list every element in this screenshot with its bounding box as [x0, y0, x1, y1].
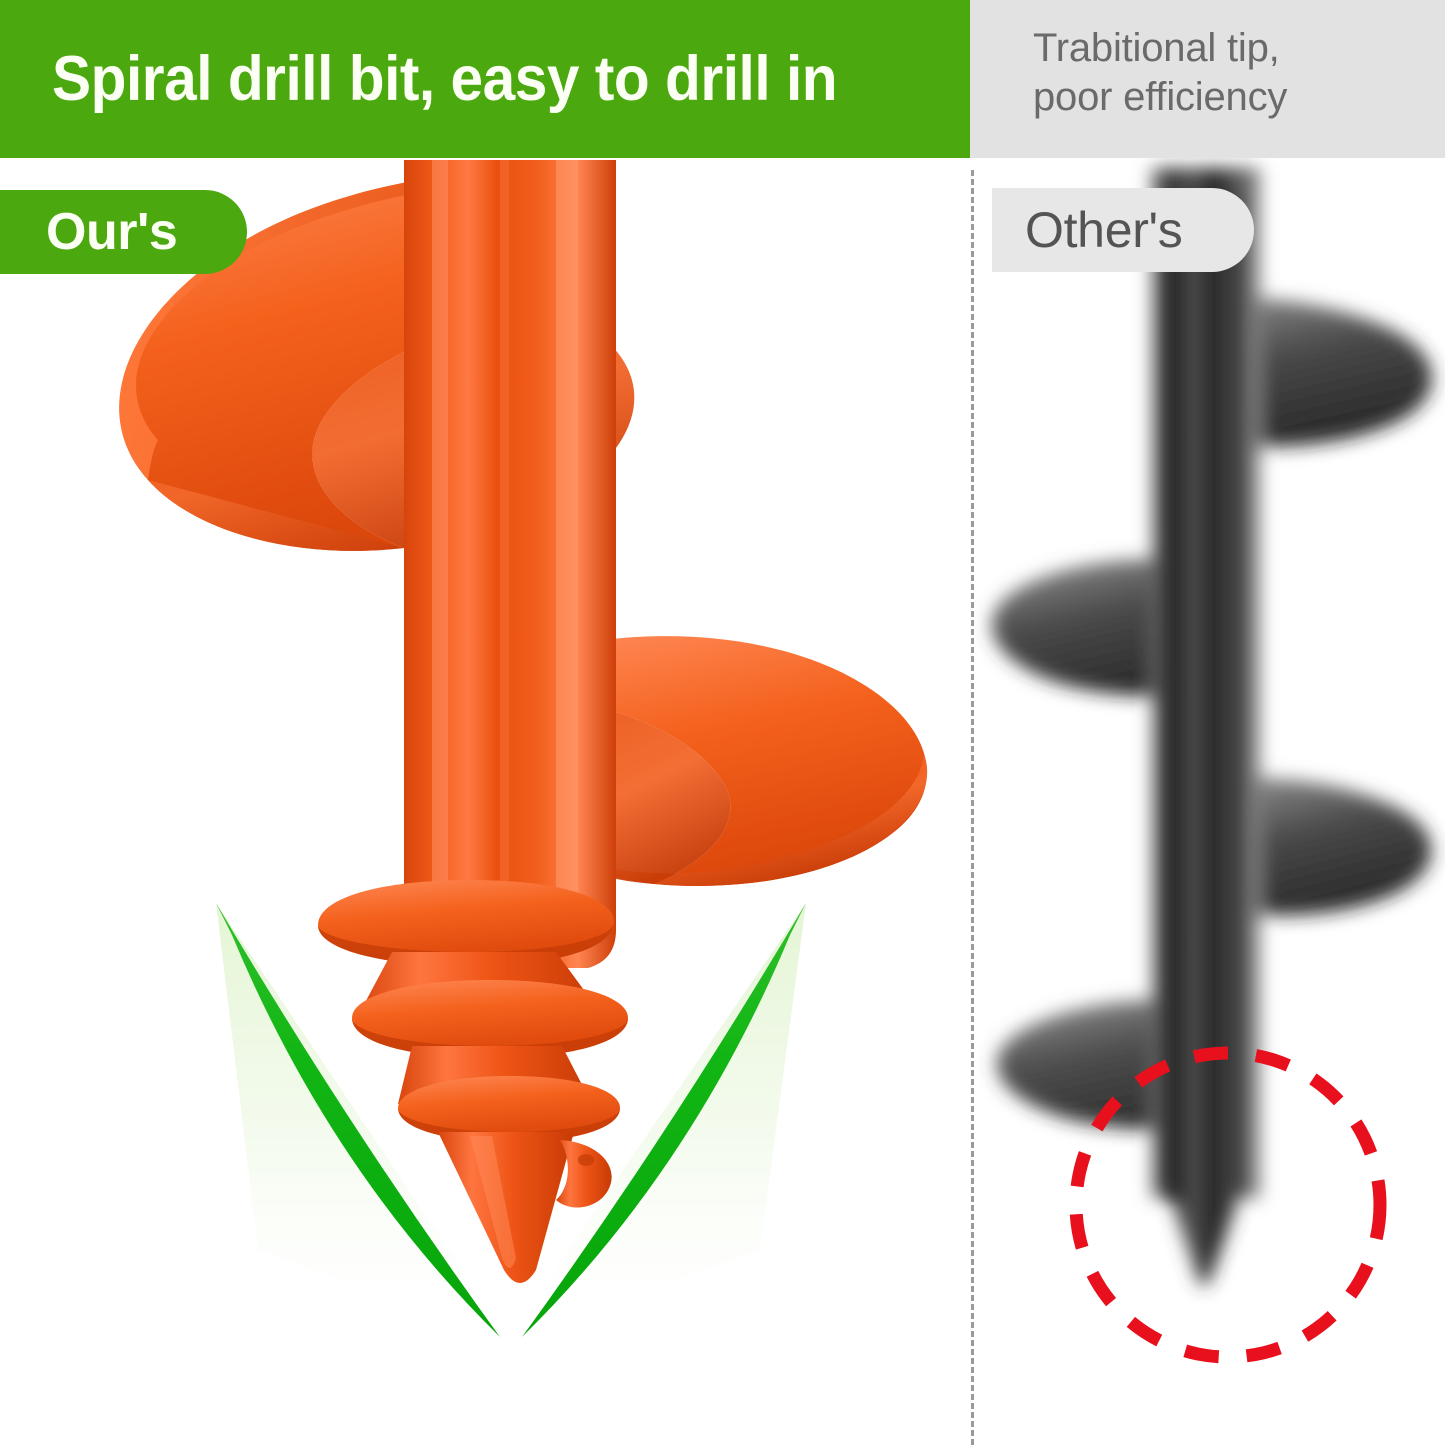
v-guide-highlight — [216, 903, 806, 1342]
dark-auger-ghost — [1166, 200, 1242, 1200]
right-banner-title-line1: Trabitional tip, — [1033, 24, 1433, 73]
ours-badge-label: Our's — [46, 202, 177, 262]
auger-flight-upper-under — [148, 309, 634, 551]
panel-divider — [971, 170, 974, 1445]
infographic-canvas: Spiral drill bit, easy to drill in Trabi… — [0, 0, 1445, 1445]
blunt-tip-callout-circle — [1076, 1053, 1380, 1357]
auger-rib-2 — [352, 980, 628, 1058]
v-line-right — [522, 903, 806, 1337]
auger-barb — [556, 1140, 612, 1208]
auger-flight-lower-top — [566, 636, 927, 886]
auger-point — [438, 1132, 574, 1283]
others-badge: Other's — [992, 188, 1254, 272]
auger-flight-lower-inner — [511, 700, 731, 884]
auger-rib-1 — [318, 880, 614, 966]
ours-badge: Our's — [0, 190, 247, 274]
auger-shaft — [404, 160, 616, 968]
dark-auger — [992, 168, 1432, 1286]
right-banner-title: Trabitional tip, poor efficiency — [1033, 24, 1433, 122]
auger-cone-seg-2 — [398, 1046, 592, 1104]
auger-cone-seg-1 — [360, 952, 600, 1012]
left-banner-title: Spiral drill bit, easy to drill in — [52, 34, 889, 124]
orange-auger — [119, 160, 927, 1283]
v-line-left — [216, 903, 500, 1337]
others-badge-label: Other's — [1025, 201, 1183, 259]
right-banner-title-line2: poor efficiency — [1033, 73, 1433, 122]
auger-rib-3 — [398, 1076, 620, 1142]
auger-flight-lower-under — [548, 754, 927, 886]
